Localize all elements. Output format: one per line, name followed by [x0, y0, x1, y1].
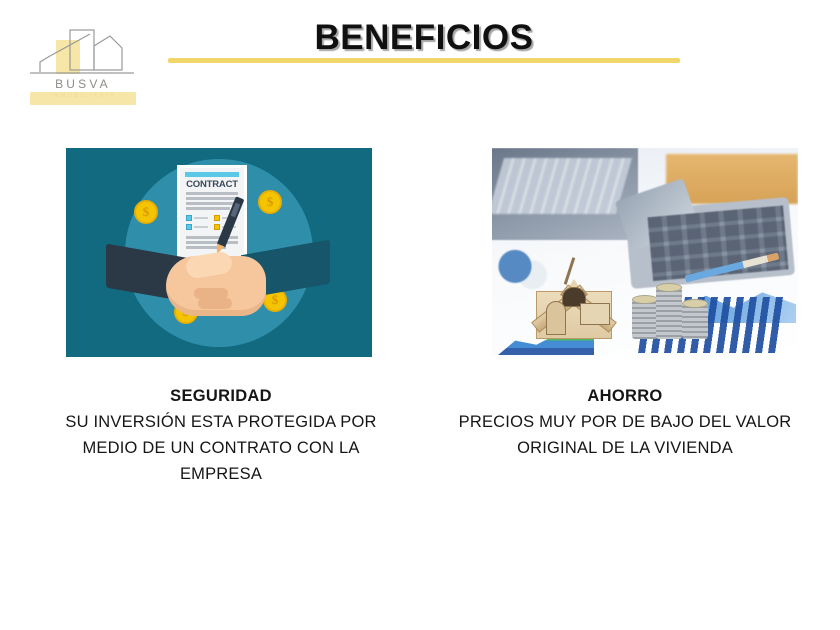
document-text-line [186, 202, 238, 205]
buildings-outline-icon [24, 26, 142, 84]
benefit-card-seguridad: $ $ $ $ CONTRACT [46, 148, 396, 487]
document-header-bar [185, 172, 239, 177]
document-checkbox [214, 224, 220, 230]
coin-stack [656, 287, 682, 339]
handshake-contract-illustration: $ $ $ $ CONTRACT [66, 148, 372, 357]
finger [198, 298, 232, 309]
document-text-line [194, 226, 208, 228]
benefit-caption: AHORRO PRECIOS MUY POR DE BAJO DEL VALOR… [450, 383, 800, 461]
house-door [546, 301, 566, 335]
coin-top [632, 295, 658, 304]
document-checkbox [186, 224, 192, 230]
dollar-coin-icon: $ [258, 190, 282, 214]
document-text-line [186, 207, 230, 210]
logo-subtitle-badge: INMOBILIARIA [30, 92, 136, 105]
wooden-house-model-icon [528, 261, 620, 339]
coin-stack [682, 303, 708, 339]
house-model-savings-photo [492, 148, 798, 357]
house-window [580, 303, 610, 325]
benefit-card-ahorro: AHORRO PRECIOS MUY POR DE BAJO DEL VALOR… [450, 148, 800, 461]
title-underline-rule [168, 58, 680, 63]
benefit-body: PRECIOS MUY POR DE BAJO DEL VALOR ORIGIN… [450, 409, 800, 461]
coin-top [656, 283, 682, 292]
coin-stack [632, 299, 658, 339]
logo-subtitle: INMOBILIARIA [30, 93, 136, 99]
dollar-coin-icon: $ [134, 200, 158, 224]
benefit-heading: SEGURIDAD [46, 383, 396, 409]
page-title: BENEFICIOS [168, 18, 680, 58]
document-checkbox [186, 215, 192, 221]
coin-top [682, 299, 708, 308]
benefit-heading: AHORRO [450, 383, 800, 409]
document-title: CONTRACT [180, 179, 244, 190]
document-checkbox [214, 215, 220, 221]
document-text-line [186, 197, 238, 200]
logo-wordmark: BUSVA [24, 77, 142, 91]
laptop-icon [492, 148, 638, 240]
document-text-line [186, 241, 238, 244]
brand-logo: BUSVA INMOBILIARIA [24, 26, 142, 106]
document-text-line [194, 217, 208, 219]
coin-stacks-icon [632, 285, 710, 339]
document-text-line [186, 192, 238, 195]
benefit-body: SU INVERSIÓN ESTA PROTEGIDA POR MEDIO DE… [46, 409, 396, 487]
document-text-line [186, 236, 238, 239]
benefit-caption: SEGURIDAD SU INVERSIÓN ESTA PROTEGIDA PO… [46, 383, 396, 487]
laptop-keyboard [492, 158, 632, 214]
